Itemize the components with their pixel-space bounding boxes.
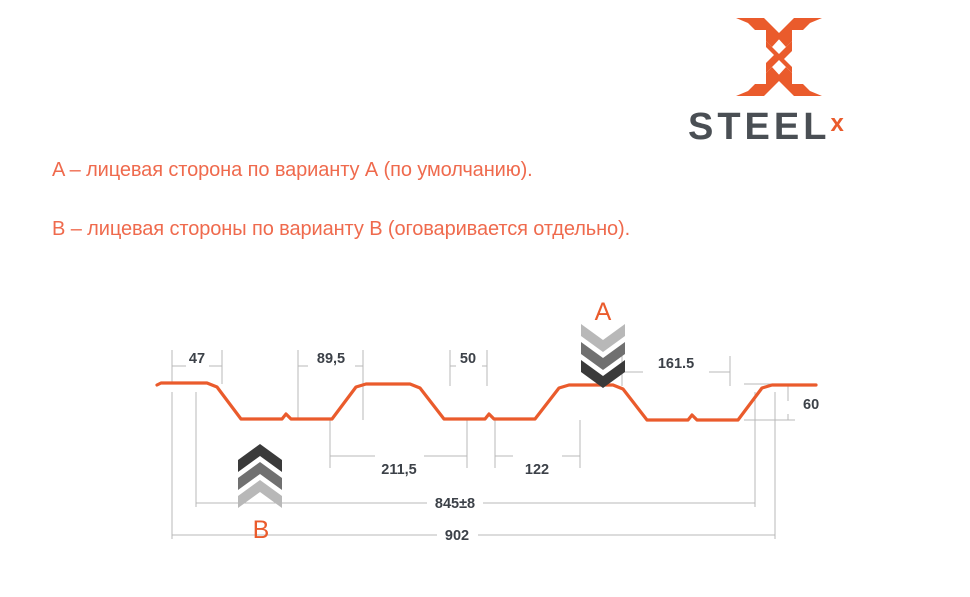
dim-211-5-label: 211,5 [381, 462, 417, 478]
profile-outline-path [157, 383, 816, 420]
dim-47-label: 47 [189, 351, 205, 367]
marker-a-label: A [595, 298, 612, 326]
marker-b: B [238, 444, 282, 544]
dim-60-label: 60 [803, 397, 819, 413]
marker-a-chevrons-down-icon [581, 324, 625, 388]
dim-50-label: 50 [460, 351, 476, 367]
dim-902-label: 902 [445, 528, 469, 544]
dim-122-label: 122 [525, 462, 549, 478]
marker-b-label: B [253, 516, 270, 544]
dim-89-5-label: 89,5 [317, 351, 345, 367]
dim-161-5-label: 161.5 [658, 356, 694, 372]
marker-b-chevrons-up-icon [238, 444, 282, 508]
profile-technical-drawing: 47 89,5 50 161.5 60 211,5 122 845±8 902 … [0, 0, 970, 597]
dim-845-label: 845±8 [435, 496, 475, 512]
marker-a: A [581, 298, 625, 388]
